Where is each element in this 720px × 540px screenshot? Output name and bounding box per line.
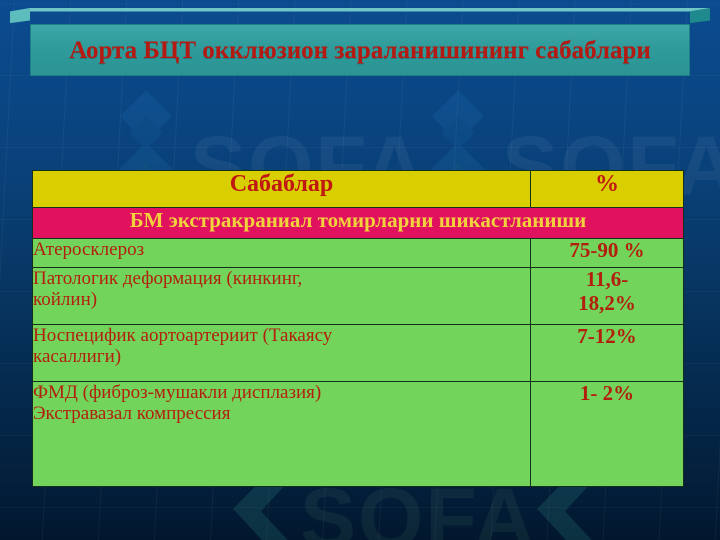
- cause-line-1: ФМД (фиброз-мушакли дисплазия): [33, 382, 530, 403]
- causes-table-container: Сабаблар % БМ экстракраниал томирларни ш…: [32, 170, 683, 487]
- percent-line-1: 1- 2%: [531, 382, 683, 406]
- section-cell: БМ экстракраниал томирларни шикастланиши: [33, 208, 684, 239]
- cell-cause: ФМД (фиброз-мушакли дисплазия) Экстраваз…: [33, 382, 531, 487]
- cell-percent: 7-12%: [531, 325, 684, 382]
- table-row: Носпецифик аортоартериит (Такаясу касалл…: [33, 325, 684, 382]
- header-label-percent: %: [595, 171, 619, 197]
- percent-line-1: 11,6-: [531, 268, 683, 292]
- table-header-row: Сабаблар %: [33, 171, 684, 208]
- title-banner-face: Аорта БЦТ окклюзион зараланишининг сабаб…: [30, 24, 690, 76]
- cell-cause: Патологик деформация (кинкинг, койлин): [33, 268, 531, 325]
- cell-percent: 11,6- 18,2%: [531, 268, 684, 325]
- cause-line-1: Носпецифик аортоартериит (Такаясу: [33, 325, 530, 346]
- cause-line-1: Патологик деформация (кинкинг,: [33, 268, 530, 289]
- table-row: Атеросклероз 75-90 %: [33, 239, 684, 268]
- page-title: Аорта БЦТ окклюзион зараланишининг сабаб…: [69, 38, 651, 63]
- title-banner-bevel: [10, 8, 710, 24]
- cause-line-2: койлин): [33, 289, 530, 310]
- header-cell-cause: Сабаблар: [33, 171, 531, 208]
- percent-line-1: 7-12%: [531, 325, 683, 349]
- table-section-row: БМ экстракраниал томирларни шикастланиши: [33, 208, 684, 239]
- title-banner: Аорта БЦТ окклюзион зараланишининг сабаб…: [10, 8, 710, 80]
- cause-line-2: касаллиги): [33, 346, 530, 367]
- cause-line-1: Атеросклероз: [33, 239, 530, 260]
- cell-percent: 1- 2%: [531, 382, 684, 487]
- percent-line-1: 75-90 %: [531, 239, 683, 263]
- cell-cause: Атеросклероз: [33, 239, 531, 268]
- cell-cause: Носпецифик аортоартериит (Такаясу касалл…: [33, 325, 531, 382]
- cell-percent: 75-90 %: [531, 239, 684, 268]
- percent-line-2: 18,2%: [531, 292, 683, 316]
- cause-line-2: Экстравазал компрессия: [33, 403, 530, 424]
- table-row: ФМД (фиброз-мушакли дисплазия) Экстраваз…: [33, 382, 684, 487]
- table-row: Патологик деформация (кинкинг, койлин) 1…: [33, 268, 684, 325]
- header-label-cause: Сабаблар: [230, 171, 334, 197]
- header-cell-percent: %: [531, 171, 684, 208]
- slide-canvas: SOFA SOFA SOFA Аорта БЦТ окклюзион зарал…: [0, 0, 720, 540]
- section-label: БМ экстракраниал томирларни шикастланиши: [130, 208, 587, 232]
- causes-table: Сабаблар % БМ экстракраниал томирларни ш…: [32, 170, 684, 487]
